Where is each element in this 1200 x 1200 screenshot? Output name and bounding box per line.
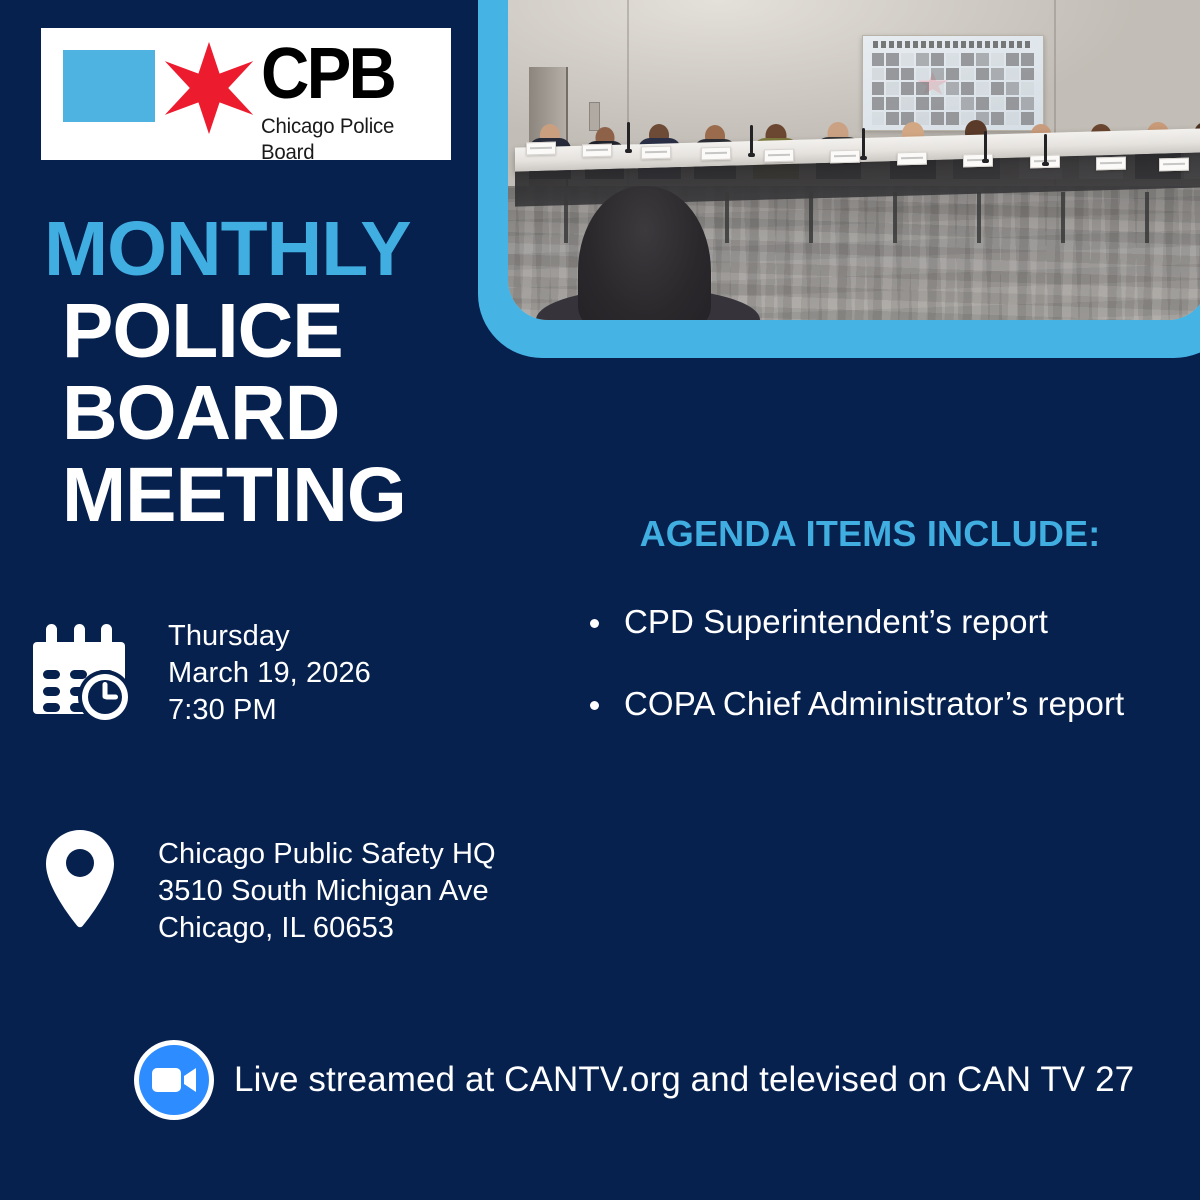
nameplate (641, 145, 671, 159)
headline-line-1: MONTHLY (44, 208, 474, 290)
headline-line-2: POLICE (44, 290, 474, 372)
chicago-star-icon (161, 36, 257, 140)
cpb-logo: CPB Chicago Police Board (41, 28, 451, 160)
meeting-photo (508, 0, 1200, 320)
nameplate (526, 142, 556, 156)
nameplate (1159, 158, 1189, 172)
headline-line-3: BOARD (44, 372, 474, 454)
venue-city: Chicago, IL 60653 (158, 910, 496, 947)
wall-poster-title (873, 41, 1031, 49)
poster-canvas: CPB Chicago Police Board MONTHLY POLICE … (0, 0, 1200, 1200)
microphone (1044, 134, 1047, 163)
map-pin-icon-wrap (24, 822, 136, 938)
nameplate (582, 144, 612, 158)
nameplate (764, 148, 794, 162)
chicago-flag-bar-icon (63, 50, 155, 122)
nameplate (1096, 156, 1126, 170)
nameplate (830, 150, 860, 164)
venue-name: Chicago Public Safety HQ (158, 836, 496, 873)
venue-street: 3510 South Michigan Ave (158, 873, 496, 910)
stream-text: Live streamed at CANTV.org and televised… (234, 1059, 1134, 1101)
meeting-date: March 19, 2026 (168, 655, 371, 692)
location-block: Chicago Public Safety HQ 3510 South Mich… (24, 822, 496, 947)
nameplate (701, 147, 731, 161)
map-pin-icon (43, 828, 117, 932)
video-camera-icon (132, 1038, 216, 1122)
date-time-block: Thursday March 19, 2026 7:30 PM (24, 612, 371, 729)
microphone (750, 125, 753, 154)
headline-line-4: MEETING (44, 454, 474, 536)
agenda-item: CPD Superintendent’s report (582, 602, 1180, 642)
photo-frame (478, 0, 1200, 358)
agenda-item: COPA Chief Administrator’s report (582, 684, 1180, 724)
logo-wordmark: CPB Chicago Police Board (261, 34, 447, 166)
microphone (862, 128, 865, 157)
location-text: Chicago Public Safety HQ 3510 South Mich… (158, 836, 496, 947)
agenda-section: AGENDA ITEMS INCLUDE: CPD Superintendent… (560, 512, 1180, 766)
stream-info: Live streamed at CANTV.org and televised… (132, 1038, 1134, 1122)
nameplate (897, 152, 927, 166)
microphone (984, 131, 987, 160)
meeting-time: 7:30 PM (168, 692, 371, 729)
date-time-text: Thursday March 19, 2026 7:30 PM (168, 618, 371, 729)
microphone (627, 122, 630, 151)
page-title: MONTHLY POLICE BOARD MEETING (44, 208, 474, 536)
logo-acronym: CPB (261, 34, 434, 114)
agenda-title: AGENDA ITEMS INCLUDE: (560, 512, 1180, 556)
calendar-clock-icon-wrap (24, 612, 140, 728)
calendar-clock-icon (30, 618, 134, 722)
meeting-day: Thursday (168, 618, 371, 655)
logo-subtitle: Chicago Police Board (261, 114, 441, 166)
agenda-list: CPD Superintendent’s report COPA Chief A… (560, 602, 1180, 724)
